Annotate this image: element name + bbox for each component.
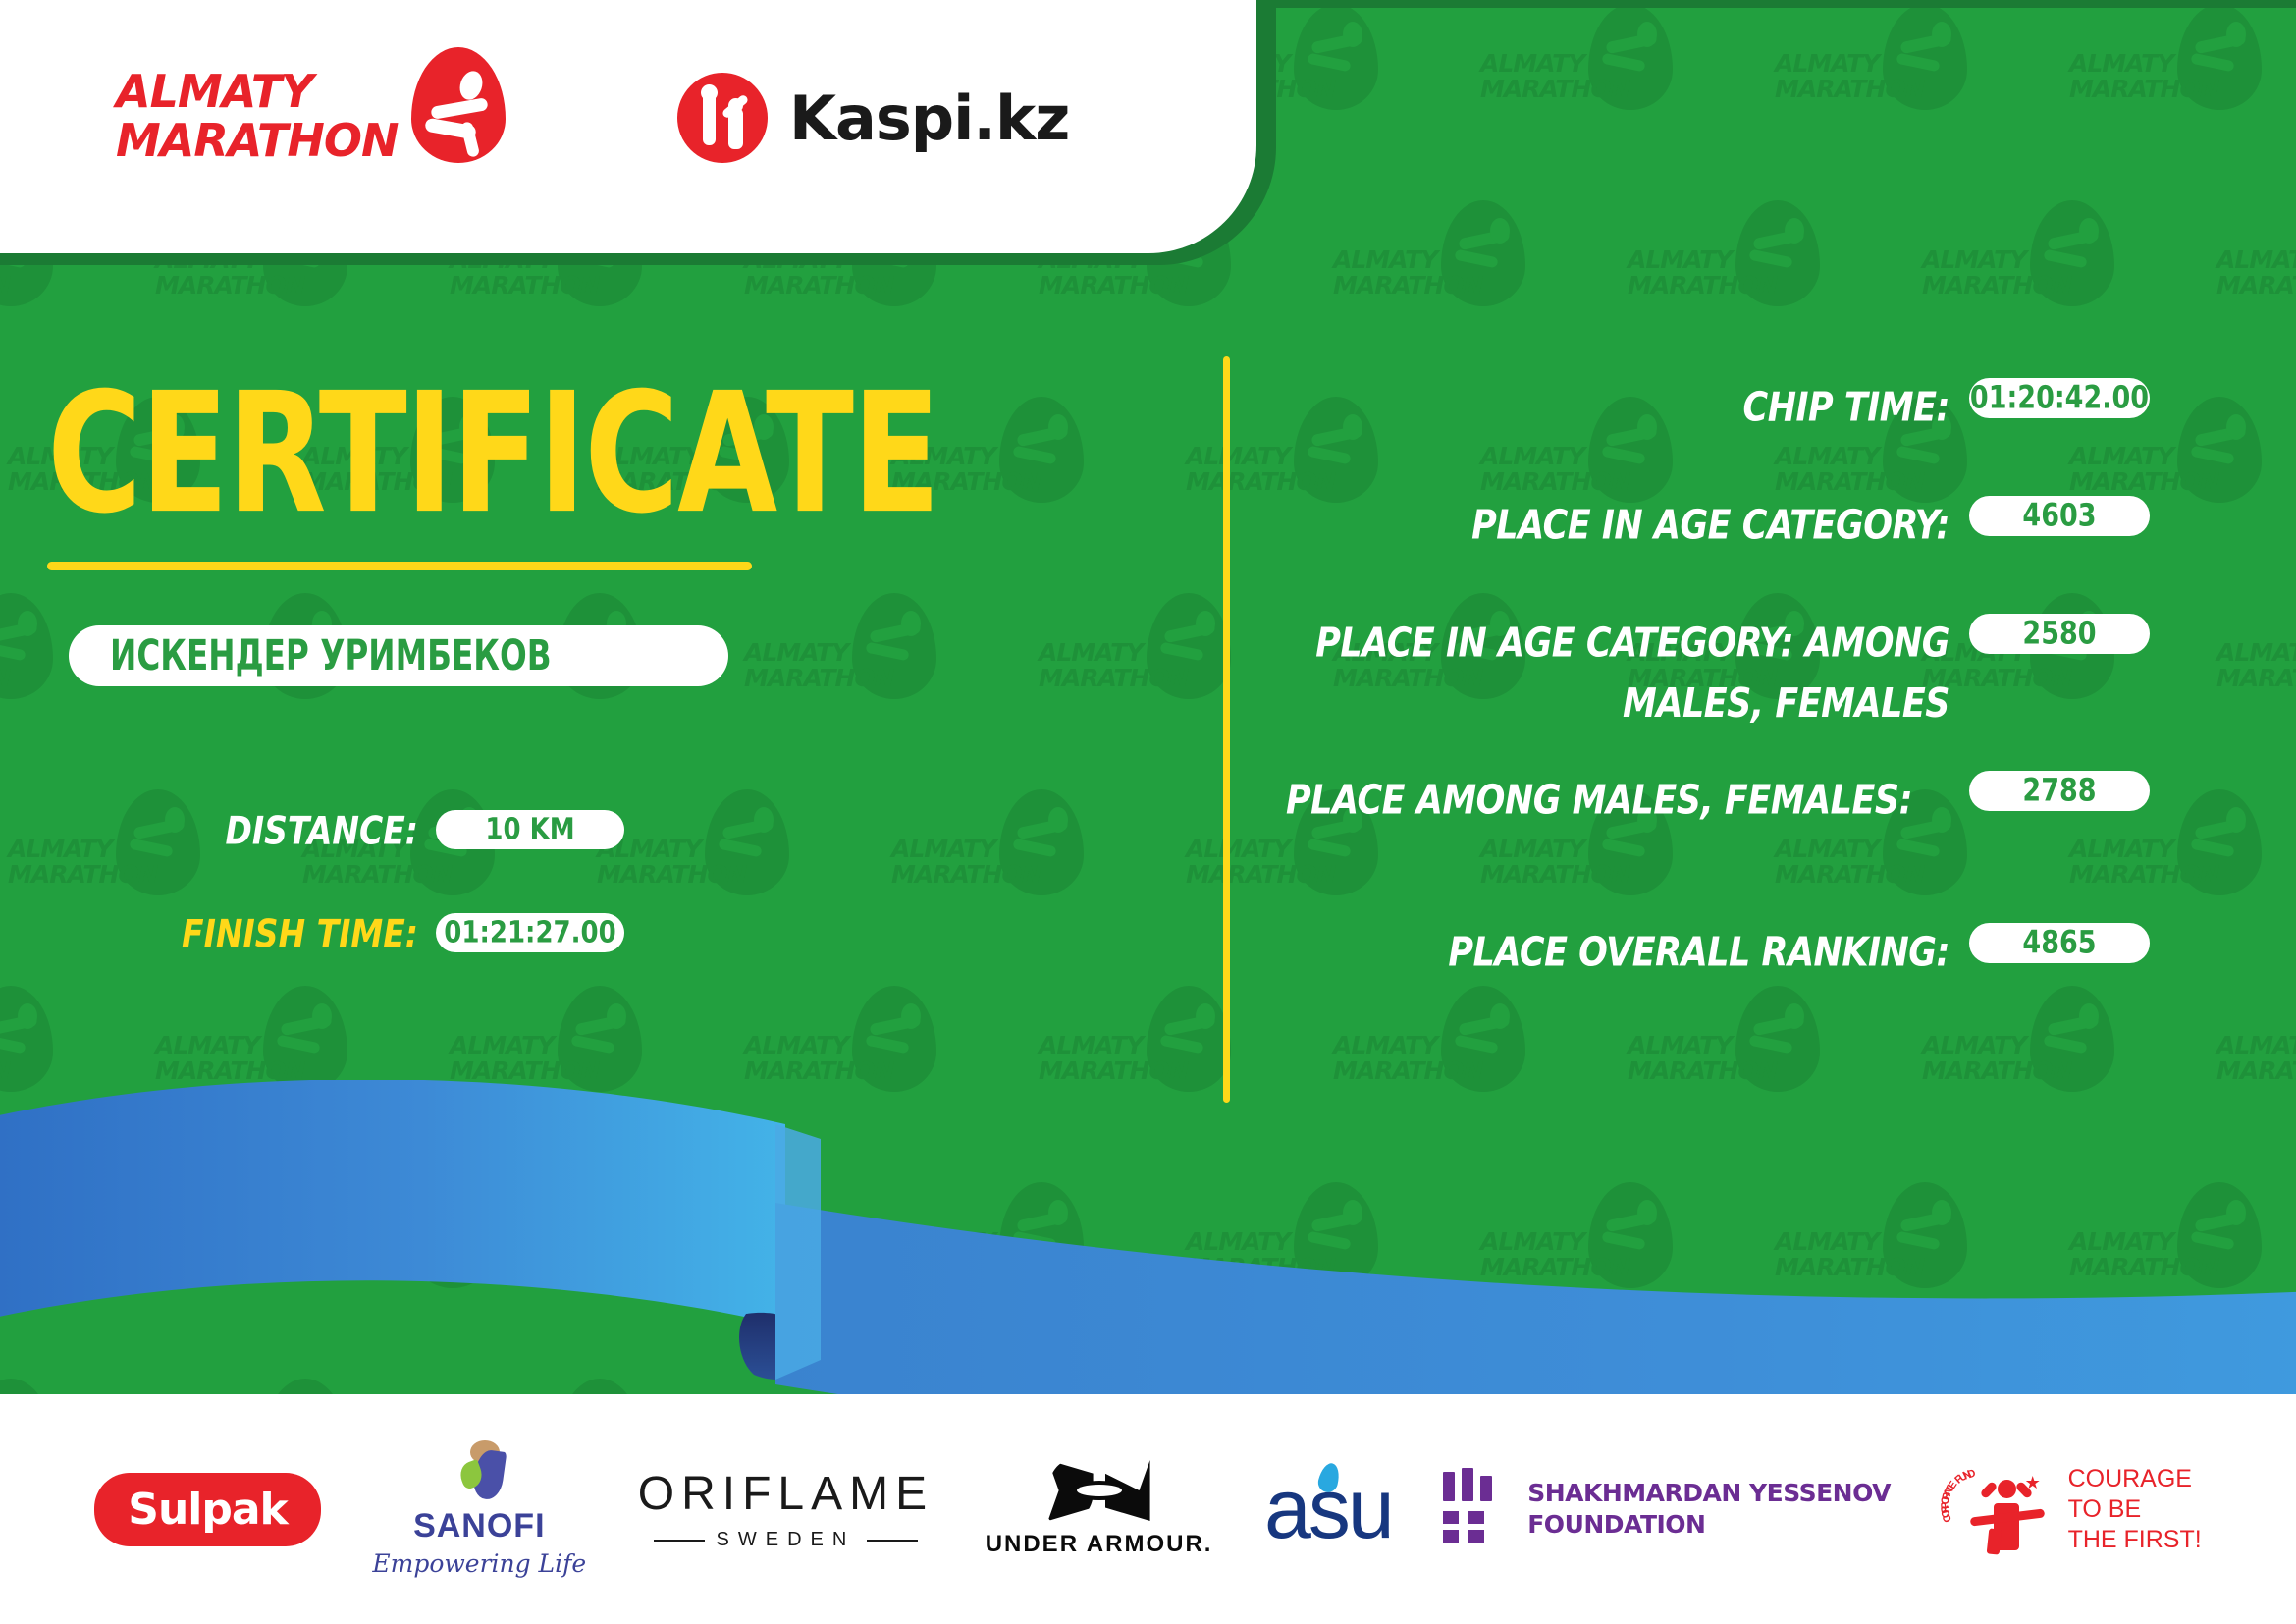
- distance-value-pill: 10 KM: [436, 810, 624, 849]
- watermark-tile: ALMATYMARATHON: [2061, 0, 2296, 196]
- yessenov-line2: FOUNDATION: [1527, 1509, 1891, 1541]
- courage-fund-icon: CORPORATE FUND ★: [1943, 1462, 2053, 1556]
- watermark-tile: ALMATYMARATHON: [1767, 1178, 2061, 1375]
- watermark-tile: ALMATYMARATHON: [147, 1375, 442, 1394]
- watermark-tile: ALMATYMARATHON: [1620, 982, 1914, 1178]
- watermark-text: ALMATYMARATHON: [597, 1229, 724, 1280]
- watermark-drop-icon: [1147, 1379, 1231, 1394]
- watermark-text: ALMATYMARATHON: [8, 837, 135, 888]
- watermark-drop-icon: [2030, 986, 2114, 1092]
- watermark-text: ALMATYMARATHON: [1922, 247, 2050, 298]
- watermark-tile: ALMATYMARATHON: [1325, 1375, 1620, 1394]
- courage-leg-shape: [1986, 1528, 2002, 1554]
- yessenov-bar-2: [1462, 1468, 1473, 1501]
- watermark-text: ALMATYMARATHON: [302, 1229, 430, 1280]
- running-man-drop-icon: [411, 47, 506, 163]
- watermark-text: ALMATYMARATHON: [1039, 1033, 1166, 1084]
- kaspi-people-icon: [677, 73, 768, 163]
- place-age-category-among-genders-label: PLACE IN AGE CATEGORY: AMONG MALES, FEMA…: [1286, 614, 1949, 734]
- result-row-place-among-genders: PLACE AMONG MALES, FEMALES: 2788: [1286, 771, 2150, 822]
- watermark-tile: ALMATYMARATHON: [0, 589, 147, 785]
- watermark-tile: ALMATYMARATHON: [0, 982, 147, 1178]
- watermark-drop-icon: [1735, 200, 1820, 306]
- sanofi-logo-text: SANOFI: [413, 1507, 545, 1545]
- watermark-tile: ALMATYMARATHON: [1620, 1375, 1914, 1394]
- title-underline: [47, 562, 752, 570]
- watermark-tile: ALMATYMARATHON: [736, 1375, 1031, 1394]
- watermark-runner-head: [459, 1200, 479, 1225]
- watermark-runner-head: [1785, 1003, 1804, 1029]
- watermark-runner-head: [754, 1200, 774, 1225]
- kaspi-child-body-shape: [728, 108, 743, 149]
- kaspi-logo-text: Kaspi.kz: [789, 82, 1069, 154]
- watermark-tile: ALMATYMARATHON: [2209, 589, 2296, 785]
- watermark-text: ALMATYMARATHON: [8, 1229, 135, 1280]
- watermark-drop-icon: [0, 986, 53, 1092]
- watermark-drop-icon: [1294, 1182, 1378, 1288]
- watermark-tile: ALMATYMARATHON: [294, 1178, 589, 1375]
- yessenov-foundation-icon: [1443, 1468, 1504, 1550]
- watermark-runner-head: [2226, 22, 2246, 47]
- watermark-tile: ALMATYMARATHON: [1031, 1375, 1325, 1394]
- watermark-runner-head: [165, 1200, 185, 1225]
- chip-time-label: CHIP TIME:: [1286, 378, 1949, 438]
- courage-line1: COURAGE: [2068, 1464, 2202, 1494]
- watermark-tile: ALMATYMARATHON: [1914, 1375, 2209, 1394]
- watermark-runner-head: [1343, 1200, 1362, 1225]
- watermark-drop-icon: [999, 789, 1084, 895]
- yessenov-bar-3: [1480, 1476, 1492, 1501]
- watermark-tile: ALMATYMARATHON: [442, 1375, 736, 1394]
- watermark-drop-icon: [558, 1379, 642, 1394]
- chip-time-value-pill: 01:20:42.00: [1969, 378, 2150, 418]
- watermark-drop-icon: [1294, 4, 1378, 110]
- watermark-runner-head: [1196, 1003, 1215, 1029]
- courage-fund-text: COURAGE TO BE THE FIRST!: [2068, 1464, 2202, 1555]
- place-age-category-among-genders-value: 2580: [2022, 616, 2096, 652]
- sponsor-logo-sanofi: SANOFI Empowering Life: [372, 1440, 586, 1578]
- watermark-drop-icon: [0, 593, 53, 699]
- finish-time-value-pill: 01:21:27.00: [436, 913, 624, 952]
- watermark-runner-head: [1048, 1200, 1068, 1225]
- watermark-tile: ALMATYMARATHON: [1914, 196, 2209, 393]
- watermark-tile: ALMATYMARATHON: [1325, 196, 1620, 393]
- watermark-runner-head: [1490, 218, 1510, 244]
- courage-line2: TO BE: [2068, 1494, 2202, 1525]
- yessenov-square-4: [1468, 1530, 1484, 1543]
- oriflame-rule-left: [654, 1540, 705, 1542]
- watermark-drop-icon: [2177, 4, 2262, 110]
- finish-time-label: FINISH TIME:: [175, 910, 418, 956]
- courage-head-shape: [1998, 1480, 2016, 1498]
- sponsor-logo-sulpak: Sulpak: [94, 1473, 321, 1546]
- watermark-text: ALMATYMARATHON: [155, 1033, 283, 1084]
- watermark-drop-icon: [852, 1379, 936, 1394]
- oriflame-logo-text: ORIFLAME: [638, 1467, 934, 1521]
- result-row-place-overall: PLACE OVERALL RANKING: 4865: [1286, 923, 2150, 974]
- column-divider: [1223, 356, 1230, 1103]
- watermark-text: ALMATYMARATHON: [2069, 444, 2197, 495]
- watermark-tile: ALMATYMARATHON: [0, 1178, 294, 1375]
- watermark-runner-head: [312, 1003, 332, 1029]
- watermark-drop-icon: [1441, 986, 1525, 1092]
- sponsor-logo-courage-fund: CORPORATE FUND ★ COURAGE TO BE THE FIRST…: [1943, 1462, 2202, 1556]
- watermark-drop-icon: [1441, 1379, 1525, 1394]
- watermark-text: ALMATYMARATHON: [1480, 1229, 1608, 1280]
- watermark-runner-head: [1196, 611, 1215, 636]
- watermark-tile: ALMATYMARATHON: [1472, 0, 1767, 196]
- page-title: CERTIFICATE: [47, 371, 938, 537]
- watermark-text: ALMATYMARATHON: [744, 1033, 872, 1084]
- watermark-drop-icon: [558, 986, 642, 1092]
- sulpak-logo-text: Sulpak: [94, 1473, 321, 1546]
- watermark-drop-icon: [999, 397, 1084, 503]
- watermark-runner-head: [1785, 218, 1804, 244]
- result-row-place-age-category-among-genders: PLACE IN AGE CATEGORY: AMONG MALES, FEMA…: [1286, 614, 2150, 716]
- sanofi-bird-icon: [449, 1440, 509, 1501]
- watermark-runner-head: [607, 1003, 626, 1029]
- watermark-tile: ALMATYMARATHON: [1031, 982, 1325, 1178]
- participant-name-value: ИСКЕНДЕР УРИМБЕКОВ: [110, 631, 552, 680]
- watermark-runner-head: [901, 1003, 921, 1029]
- finish-time-row: FINISH TIME: 01:21:27.00: [175, 913, 624, 952]
- watermark-text: ALMATYMARATHON: [1186, 837, 1313, 888]
- watermark-drop-icon: [1147, 986, 1231, 1092]
- watermark-text: ALMATYMARATHON: [1186, 1229, 1313, 1280]
- place-age-category-value-pill: 4603: [1969, 496, 2150, 536]
- almaty-marathon-logo-line2: MARATHON: [116, 116, 398, 165]
- watermark-drop-icon: [2177, 789, 2262, 895]
- result-row-chip-time: CHIP TIME: 01:20:42.00: [1286, 378, 2150, 429]
- certificate-page: ALMATYMARATHONALMATYMARATHONALMATYMARATH…: [0, 0, 2296, 1624]
- runner-arm-shape: [431, 97, 489, 120]
- chip-time-value: 01:20:42.00: [1970, 380, 2149, 416]
- distance-label: DISTANCE:: [175, 807, 418, 853]
- watermark-tile: ALMATYMARATHON: [1914, 982, 2209, 1178]
- watermark-drop-icon: [999, 1182, 1084, 1288]
- runner-leg-back-shape: [460, 121, 480, 158]
- watermark-text: ALMATYMARATHON: [1039, 640, 1166, 691]
- watermark-tile: ALMATYMARATHON: [1031, 589, 1325, 785]
- almaty-marathon-logo-line1: ALMATY: [116, 67, 398, 116]
- watermark-runner-head: [754, 807, 774, 833]
- watermark-drop-icon: [705, 789, 789, 895]
- watermark-text: ALMATYMARATHON: [2216, 247, 2296, 298]
- watermark-runner-head: [1637, 22, 1657, 47]
- watermark-runner-head: [1637, 1200, 1657, 1225]
- watermark-tile: ALMATYMARATHON: [589, 1178, 883, 1375]
- participant-name-field: ИСКЕНДЕР УРИМБЕКОВ: [69, 625, 728, 686]
- watermark-drop-icon: [1735, 986, 1820, 1092]
- sanofi-tagline: Empowering Life: [372, 1549, 586, 1578]
- watermark-drop-icon: [116, 1182, 200, 1288]
- watermark-runner-head: [2226, 414, 2246, 440]
- place-overall-value: 4865: [2022, 925, 2096, 961]
- watermark-runner-head: [901, 611, 921, 636]
- watermark-tile: ALMATYMARATHON: [2061, 1178, 2296, 1375]
- watermark-text: ALMATYMARATHON: [2069, 1229, 2197, 1280]
- watermark-runner-head: [2226, 1200, 2246, 1225]
- watermark-text: ALMATYMARATHON: [744, 640, 872, 691]
- watermark-text: ALMATYMARATHON: [891, 1229, 1019, 1280]
- sponsor-logo-asu: asu: [1264, 1461, 1392, 1558]
- watermark-drop-icon: [852, 986, 936, 1092]
- place-overall-label: PLACE OVERALL RANKING:: [1286, 923, 1949, 983]
- courage-line3: THE FIRST!: [2068, 1525, 2202, 1555]
- watermark-text: ALMATYMARATHON: [2216, 1033, 2296, 1084]
- watermark-text: ALMATYMARATHON: [2216, 640, 2296, 691]
- sponsor-logo-under-armour: UNDER ARMOUR.: [986, 1460, 1213, 1558]
- watermark-drop-icon: [2177, 1182, 2262, 1288]
- under-armour-icon: [1048, 1460, 1150, 1521]
- watermark-runner-head: [2226, 807, 2246, 833]
- watermark-text: ALMATYMARATHON: [1628, 1033, 1755, 1084]
- watermark-text: ALMATYMARATHON: [2069, 51, 2197, 102]
- watermark-tile: ALMATYMARATHON: [442, 589, 736, 785]
- almaty-marathon-logo-text: ALMATY MARATHON: [116, 67, 398, 165]
- watermark-drop-icon: [410, 1182, 495, 1288]
- watermark-text: ALMATYMARATHON: [891, 837, 1019, 888]
- watermark-runner-head: [1048, 807, 1068, 833]
- place-age-category-value: 4603: [2022, 498, 2096, 534]
- watermark-tile: ALMATYMARATHON: [1620, 196, 1914, 393]
- yessenov-square-1: [1443, 1511, 1459, 1524]
- kaspi-adult-body-shape: [703, 88, 716, 145]
- watermark-drop-icon: [1883, 4, 1967, 110]
- watermark-drop-icon: [263, 1379, 347, 1394]
- yessenov-foundation-text: SHAKHMARDAN YESSENOV FOUNDATION: [1527, 1478, 1891, 1541]
- kaspi-logo: Kaspi.kz: [677, 73, 1069, 163]
- watermark-tile: ALMATYMARATHON: [147, 589, 442, 785]
- watermark-drop-icon: [1588, 4, 1673, 110]
- watermark-text: ALMATYMARATHON: [1480, 837, 1608, 888]
- watermark-tile: ALMATYMARATHON: [736, 589, 1031, 785]
- watermark-runner-head: [2079, 1003, 2099, 1029]
- watermark-runner-head: [2079, 218, 2099, 244]
- watermark-tile: ALMATYMARATHON: [147, 982, 442, 1178]
- watermark-runner-head: [1048, 414, 1068, 440]
- oriflame-rule-right: [867, 1540, 918, 1542]
- watermark-text: ALMATYMARATHON: [2069, 837, 2197, 888]
- watermark-drop-icon: [2030, 200, 2114, 306]
- watermark-runner-head: [1932, 22, 1951, 47]
- watermark-tile: ALMATYMARATHON: [883, 1178, 1178, 1375]
- oriflame-sweden-text: SWEDEN: [717, 1529, 856, 1551]
- watermark-tile: ALMATYMARATHON: [442, 982, 736, 1178]
- yessenov-line1: SHAKHMARDAN YESSENOV: [1527, 1478, 1891, 1509]
- watermark-drop-icon: [1147, 593, 1231, 699]
- place-age-category-label: PLACE IN AGE CATEGORY:: [1286, 496, 1949, 556]
- watermark-drop-icon: [852, 593, 936, 699]
- place-overall-value-pill: 4865: [1969, 923, 2150, 963]
- yessenov-square-3: [1443, 1530, 1459, 1543]
- watermark-runner-head: [1343, 22, 1362, 47]
- watermark-runner-head: [18, 611, 37, 636]
- watermark-tile: ALMATYMARATHON: [736, 982, 1031, 1178]
- watermark-tile: ALMATYMARATHON: [1472, 1178, 1767, 1375]
- watermark-drop-icon: [705, 1182, 789, 1288]
- almaty-marathon-logo: ALMATY MARATHON: [116, 47, 506, 165]
- watermark-tile: ALMATYMARATHON: [1767, 0, 2061, 196]
- watermark-tile: ALMATYMARATHON: [2209, 196, 2296, 393]
- place-among-genders-label: PLACE AMONG MALES, FEMALES:: [1286, 771, 1949, 831]
- yessenov-bar-1: [1443, 1472, 1455, 1501]
- watermark-tile: ALMATYMARATHON: [2209, 1375, 2296, 1394]
- watermark-tile: ALMATYMARATHON: [1325, 982, 1620, 1178]
- watermark-text: ALMATYMARATHON: [1775, 837, 1902, 888]
- place-among-genders-value-pill: 2788: [1969, 771, 2150, 811]
- under-armour-logo-text: UNDER ARMOUR.: [986, 1531, 1213, 1558]
- watermark-drop-icon: [2177, 397, 2262, 503]
- place-age-category-among-genders-value-pill: 2580: [1969, 614, 2150, 654]
- sponsor-logo-yessenov-foundation: SHAKHMARDAN YESSENOV FOUNDATION: [1443, 1468, 1891, 1550]
- watermark-drop-icon: [1883, 1182, 1967, 1288]
- watermark-text: ALMATYMARATHON: [1628, 247, 1755, 298]
- finish-time-value: 01:21:27.00: [444, 915, 615, 949]
- watermark-drop-icon: [2030, 1379, 2114, 1394]
- sponsors-strip: Sulpak SANOFI Empowering Life ORIFLAME S…: [0, 1394, 2296, 1624]
- certificate-green-panel: ALMATYMARATHONALMATYMARATHONALMATYMARATH…: [0, 0, 2296, 1394]
- distance-row: DISTANCE: 10 KM: [175, 810, 624, 849]
- watermark-drop-icon: [263, 986, 347, 1092]
- watermark-text: ALMATYMARATHON: [450, 1033, 577, 1084]
- watermark-text: ALMATYMARATHON: [1922, 1033, 2050, 1084]
- watermark-text: ALMATYMARATHON: [1333, 247, 1461, 298]
- place-among-genders-value: 2788: [2022, 773, 2096, 809]
- watermark-drop-icon: [1441, 200, 1525, 306]
- watermark-text: ALMATYMARATHON: [1775, 51, 1902, 102]
- watermark-runner-head: [1490, 1003, 1510, 1029]
- watermark-tile: ALMATYMARATHON: [1178, 1178, 1472, 1375]
- watermark-text: ALMATYMARATHON: [1480, 51, 1608, 102]
- watermark-runner-head: [1932, 1200, 1951, 1225]
- watermark-tile: ALMATYMARATHON: [589, 785, 883, 982]
- sponsor-logo-oriflame: ORIFLAME SWEDEN: [638, 1467, 934, 1551]
- distance-value: 10 KM: [485, 812, 574, 846]
- watermark-text: ALMATYMARATHON: [1333, 1033, 1461, 1084]
- watermark-tile: ALMATYMARATHON: [883, 785, 1178, 982]
- watermark-runner-head: [18, 1003, 37, 1029]
- watermark-drop-icon: [1588, 1182, 1673, 1288]
- oriflame-sub-row: SWEDEN: [654, 1529, 919, 1551]
- under-armour-center-shape: [1070, 1481, 1129, 1500]
- courage-child-figure-shape: ★: [1976, 1474, 2041, 1552]
- watermark-text: ALMATYMARATHON: [1480, 444, 1608, 495]
- watermark-text: ALMATYMARATHON: [1775, 444, 1902, 495]
- watermark-text: ALMATYMARATHON: [1775, 1229, 1902, 1280]
- courage-left-arm-shape: [1979, 1481, 1998, 1499]
- result-row-place-age-category: PLACE IN AGE CATEGORY: 4603: [1286, 496, 2150, 547]
- watermark-tile: ALMATYMARATHON: [2209, 982, 2296, 1178]
- watermark-drop-icon: [1735, 1379, 1820, 1394]
- watermark-text: ALMATYMARATHON: [1186, 444, 1313, 495]
- yessenov-square-2: [1468, 1511, 1484, 1524]
- watermark-tile: ALMATYMARATHON: [0, 1375, 147, 1394]
- watermark-drop-icon: [0, 1379, 53, 1394]
